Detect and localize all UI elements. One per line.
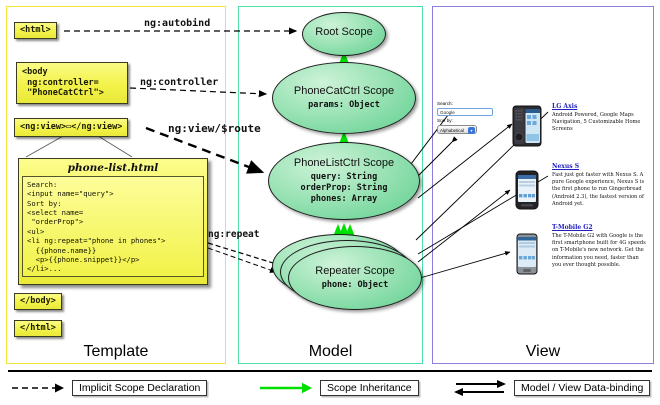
tag-ng-view: <ng:view>▭</ng:view> <box>14 118 128 137</box>
legend-divider <box>8 370 652 372</box>
phone-description: The T-Mobile G2 with Google is the first… <box>552 233 648 269</box>
scope-repeater: Repeater Scope phone: Object <box>288 246 422 310</box>
scope-root-name: Root Scope <box>315 26 372 38</box>
phone-name-link[interactable]: T-Mobile G2 <box>552 224 648 231</box>
legend-item-model-view-data-binding: Model / View Data-binding <box>452 379 650 397</box>
phone-description: Android Powered, Google Maps Navigation,… <box>552 112 648 134</box>
phone-list-item[interactable]: T-Mobile G2 The T-Mobile G2 with Google … <box>552 224 648 269</box>
legend: Implicit Scope Declaration Scope Inherit… <box>0 373 660 405</box>
tag-html-close: </html> <box>14 320 62 337</box>
legend-label: Model / View Data-binding <box>514 380 650 396</box>
phone-list-callout: phone-list.html Search: <input name="que… <box>18 158 208 285</box>
callout-title: phone-list.html <box>19 159 207 176</box>
tag-body-open: <body ng:controller= "PhoneCatCtrl"> <box>16 62 128 104</box>
legend-item-implicit-scope-declaration: Implicit Scope Declaration <box>10 379 207 397</box>
dashed-arrow-icon <box>10 379 66 397</box>
phone-name-link[interactable]: Nexus S <box>552 163 648 170</box>
legend-item-scope-inheritance: Scope Inheritance <box>258 379 419 397</box>
phone-thumbnail-nexus-s <box>512 168 542 212</box>
edge-label-autobind: ng:autobind <box>144 18 210 29</box>
phone-name-link[interactable]: LG Axis <box>552 103 648 110</box>
column-label-view: View <box>433 343 653 361</box>
diagram-canvas: Template Model View <box>0 0 660 405</box>
tag-body-close: </body> <box>14 293 62 310</box>
scope-phonecatctrl: PhoneCatCtrl Scope params: Object <box>272 62 416 134</box>
double-arrow-icon <box>452 379 508 397</box>
scope-repeater-props: phone: Object <box>322 280 389 291</box>
sort-label: Sort by: <box>437 118 495 124</box>
solid-arrow-icon <box>258 379 314 397</box>
edge-label-controller: ng:controller <box>140 77 218 88</box>
scope-phonelistctrl-props: query: String orderProp: String phones: … <box>301 172 388 205</box>
scope-root: Root Scope <box>302 12 386 56</box>
scope-phonelistctrl-name: PhoneListCtrl Scope <box>294 157 394 169</box>
phone-thumbnail-lg-axis <box>512 104 542 148</box>
scope-repeater-name: Repeater Scope <box>315 265 395 277</box>
sort-select[interactable]: Alphabetical ▾ <box>437 125 477 134</box>
phone-list-item[interactable]: Nexus S Fast just got faster with Nexus … <box>552 163 648 208</box>
sort-select-value: Alphabetical <box>440 128 464 133</box>
search-form: Search: Google Sort by: Alphabetical ▾ <box>437 101 495 134</box>
scope-phonelistctrl: PhoneListCtrl Scope query: String orderP… <box>268 142 420 220</box>
edge-label-route: ng:view/$route <box>168 122 261 135</box>
legend-label: Implicit Scope Declaration <box>72 380 207 396</box>
phone-list-item[interactable]: LG Axis Android Powered, Google Maps Nav… <box>552 103 648 134</box>
legend-label: Scope Inheritance <box>320 380 419 396</box>
chevron-down-icon: ▾ <box>468 127 475 134</box>
callout-code: Search: <input name="query"> Sort by: <s… <box>22 176 204 277</box>
phone-description: Fast just got faster with Nexus S. A pur… <box>552 172 648 208</box>
search-label: Search: <box>437 101 495 107</box>
phone-thumbnail-t-mobile-g2 <box>512 232 542 276</box>
scope-phonecatctrl-props: params: Object <box>308 100 380 111</box>
search-input[interactable]: Google <box>437 108 493 116</box>
edge-label-repeat: ng:repeat <box>208 229 259 240</box>
scope-phonecatctrl-name: PhoneCatCtrl Scope <box>294 85 394 97</box>
tag-html-open: <html> <box>14 22 57 39</box>
column-label-template: Template <box>7 343 225 361</box>
column-label-model: Model <box>239 343 422 361</box>
